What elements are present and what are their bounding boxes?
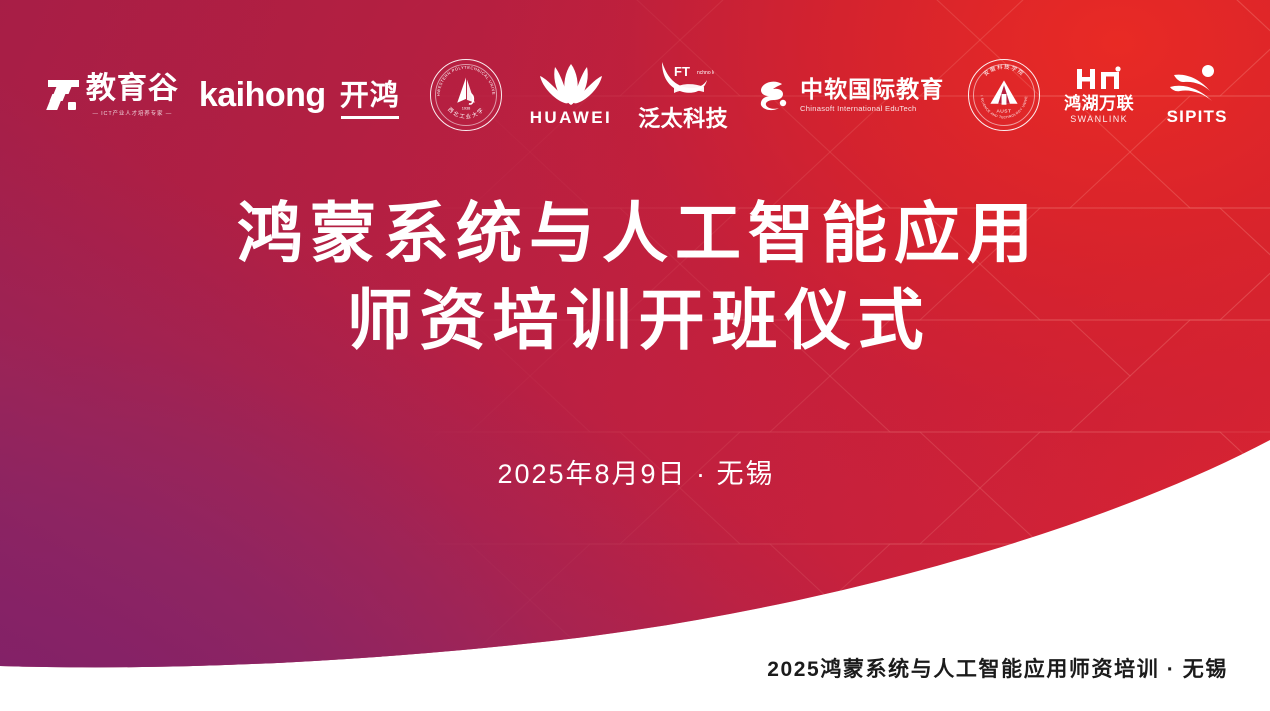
logo-jiaoyugu: 教育谷 — ICT产业人才培养专家 —: [48, 73, 199, 117]
svg-text:FT: FT: [674, 64, 690, 79]
logo-swanlink: 鸿湖万联 SWANLINK: [1052, 66, 1146, 124]
running-figure-mark-icon: [1160, 63, 1234, 105]
svg-text:nchno logy: nchno logy: [697, 70, 714, 76]
svg-text:AUST: AUST: [997, 109, 1012, 115]
title-block: 鸿蒙系统与人工智能应用 师资培训开班仪式: [0, 190, 1270, 364]
logo-huawei: HUAWEI: [516, 62, 626, 128]
logo-chinasoft: 中软国际教育 Chinasoft International EduTech: [740, 75, 956, 115]
subtitle-date-location: 2025年8月9日 · 无锡: [0, 452, 1270, 491]
page-title-line-1: 鸿蒙系统与人工智能应用: [0, 190, 1270, 277]
logo-aust: 安徽科技学院 ANHUI SCIENCE AND TECHNOLOGY UNIV…: [956, 59, 1052, 131]
logo-kaihong: kaihong: [199, 76, 340, 115]
logo-kaihong-wordmark: kaihong: [199, 76, 326, 115]
logo-sipits-wordmark: SIPITS: [1167, 107, 1228, 127]
logo-kaihong-cn: 开鸿: [340, 72, 416, 119]
logo-sipits: SIPITS: [1146, 63, 1234, 127]
university-seal-icon: NORTHWESTERN POLYTECHNICAL UNIVERSITY 西北…: [430, 59, 502, 131]
swanlink-mark-icon: [1073, 66, 1125, 92]
page-title-line-2: 师资培训开班仪式: [0, 277, 1270, 364]
partner-logo-bar: 教育谷 — ICT产业人才培养专家 — kaihong 开鸿 NORTHWE: [0, 52, 1270, 138]
svg-text:1938: 1938: [461, 106, 470, 111]
university-seal-icon: 安徽科技学院 ANHUI SCIENCE AND TECHNOLOGY UNIV…: [968, 59, 1040, 131]
logo-jiaoyugu-name: 教育谷: [86, 73, 179, 105]
logo-fantai: FT nchno logy 泛太科技: [626, 58, 740, 133]
footer-text: 2025鸿蒙系统与人工智能应用师资培训 · 无锡: [767, 653, 1228, 683]
logo-kaihong-name: 开鸿: [340, 72, 400, 119]
logo-npu: NORTHWESTERN POLYTECHNICAL UNIVERSITY 西北…: [416, 59, 516, 131]
logo-jiaoyugu-tagline: — ICT产业人才培养专家 —: [93, 108, 173, 116]
logo-chinasoft-name-en: Chinasoft International EduTech: [800, 104, 917, 113]
seven-arrow-mark-icon: [48, 80, 79, 110]
logo-fantai-name: 泛太科技: [638, 101, 728, 133]
chinasoft-swirl-mark-icon: [752, 75, 792, 115]
logo-huawei-wordmark: HUAWEI: [530, 108, 612, 128]
fantai-wave-mark-icon: FT nchno logy: [652, 58, 714, 100]
logo-swanlink-name: 鸿湖万联: [1064, 95, 1134, 113]
logo-chinasoft-name: 中软国际教育: [800, 77, 944, 102]
presentation-slide: 教育谷 — ICT产业人才培养专家 — kaihong 开鸿 NORTHWE: [0, 0, 1270, 711]
svg-text:安徽科技学院: 安徽科技学院: [982, 63, 1027, 78]
huawei-petal-flower-icon: [531, 62, 611, 106]
logo-swanlink-name-en: SWANLINK: [1070, 114, 1128, 124]
